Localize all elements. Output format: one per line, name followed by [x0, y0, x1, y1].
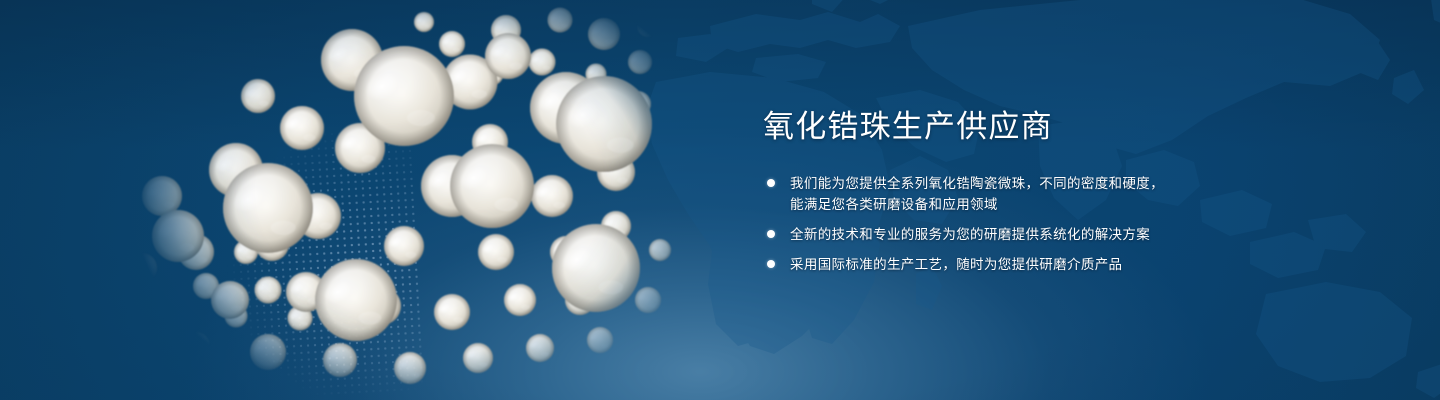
list-item-line: 全新的技术和专业的服务为您的研磨提供系统化的解决方案 — [790, 224, 1233, 245]
list-item-line: 能满足您各类研磨设备和应用领域 — [790, 194, 1233, 215]
list-item: 采用国际标准的生产工艺，随时为您提供研磨介质产品 — [763, 254, 1233, 275]
bullet-dot-icon — [767, 230, 775, 238]
banner-copy: 氧化锆珠生产供应商 我们能为您提供全系列氧化锆陶瓷微珠，不同的密度和硬度， 能满… — [763, 108, 1233, 275]
list-item-line: 采用国际标准的生产工艺，随时为您提供研磨介质产品 — [790, 254, 1233, 275]
bullet-dot-icon — [767, 179, 775, 187]
list-item: 我们能为您提供全系列氧化锆陶瓷微珠，不同的密度和硬度， 能满足您各类研磨设备和应… — [763, 173, 1233, 215]
bullet-dot-icon — [767, 260, 775, 268]
list-item-line: 我们能为您提供全系列氧化锆陶瓷微珠，不同的密度和硬度， — [790, 173, 1233, 194]
feature-list: 我们能为您提供全系列氧化锆陶瓷微珠，不同的密度和硬度， 能满足您各类研磨设备和应… — [763, 173, 1233, 275]
list-item: 全新的技术和专业的服务为您的研磨提供系统化的解决方案 — [763, 224, 1233, 245]
page-title: 氧化锆珠生产供应商 — [763, 108, 1233, 147]
hero-banner: 氧化锆珠生产供应商 我们能为您提供全系列氧化锆陶瓷微珠，不同的密度和硬度， 能满… — [0, 0, 1440, 400]
